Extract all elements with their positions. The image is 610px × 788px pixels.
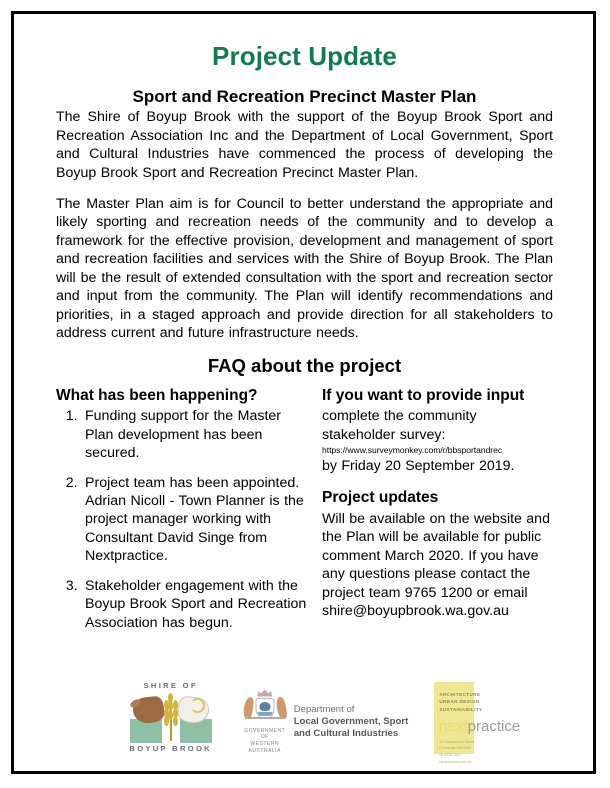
project-updates-heading: Project updates (322, 489, 550, 508)
aim-paragraph: The Master Plan aim is for Council to be… (56, 195, 553, 343)
gov-line-1: GOVERNMENT OF (243, 728, 287, 742)
intro-paragraph: The Shire of Boyup Brook with the suppor… (56, 108, 553, 182)
survey-deadline-text: by Friday 20 September 2019. (322, 457, 550, 475)
nextpractice-yellow-square: ARCHITECTURE URBAN DESIGN SUSTAINABILITY… (434, 682, 474, 754)
faq-heading: FAQ about the project (56, 355, 553, 377)
department-logo: GOVERNMENT OF WESTERN AUSTRALIA Departme… (243, 682, 409, 756)
shire-crest-icon (128, 691, 214, 743)
two-column-section: What has been happening? Funding support… (56, 387, 553, 633)
gov-line-2: WESTERN AUSTRALIA (243, 741, 287, 755)
kangaroo-left-icon (242, 696, 255, 719)
left-column-heading: What has been happening? (56, 387, 308, 406)
tagline-line-1: ARCHITECTURE (439, 691, 482, 699)
nextpractice-wordmark: nextpractice (439, 719, 520, 734)
tagline-line-3: SUSTAINABILITY (439, 706, 482, 714)
nextpractice-logo: ARCHITECTURE URBAN DESIGN SUSTAINABILITY… (434, 682, 512, 754)
logo-strip: SHIRE OF (14, 682, 593, 756)
kangaroo-right-icon (275, 696, 288, 719)
project-updates-text: Will be available on the website and the… (322, 510, 550, 621)
department-line-2: Local Government, Sport (294, 716, 409, 728)
crest-baseline (245, 717, 285, 719)
right-column: If you want to provide input complete th… (322, 387, 550, 621)
shire-of-boyup-brook-logo: SHIRE OF (125, 682, 217, 753)
address-line-3: 08 9335 1110 (439, 752, 474, 759)
department-name-text: Department of Local Government, Sport an… (294, 704, 409, 741)
document-subtitle: Sport and Recreation Precinct Master Pla… (56, 87, 553, 107)
page-title: Project Update (56, 42, 553, 71)
survey-link[interactable]: https://www.surveymonkey.com/r/bbsportan… (322, 445, 550, 456)
sheep-horn-icon (190, 698, 205, 713)
department-line-3: and Cultural Industries (294, 728, 409, 740)
tagline-line-2: URBAN DESIGN (439, 698, 482, 706)
nextpractice-tagline: ARCHITECTURE URBAN DESIGN SUSTAINABILITY (439, 691, 482, 714)
government-of-text: GOVERNMENT OF WESTERN AUSTRALIA (243, 728, 287, 756)
progress-list: Funding support for the Master Plan deve… (56, 407, 308, 632)
address-line-2: Fremantle WA 6160 (439, 745, 474, 752)
left-column: What has been happening? Funding support… (56, 387, 308, 633)
list-item: Stakeholder engagement with the Boyup Br… (82, 577, 308, 632)
crown-icon (257, 690, 272, 697)
water-wave-icon (257, 712, 272, 716)
crest-artwork (243, 690, 287, 727)
wordmark-practice: practice (468, 718, 521, 735)
document-page: Project Update Sport and Recreation Prec… (0, 0, 610, 788)
wheat-grain (168, 710, 173, 720)
wheat-grain (173, 716, 178, 726)
wheat-stalk-icon (163, 691, 179, 741)
wordmark-next: next (439, 718, 467, 735)
list-item: Project team has been appointed. Adrian … (82, 474, 308, 566)
provide-input-heading: If you want to provide input (322, 387, 550, 406)
nextpractice-address: 11 Cantonment Street Fremantle WA 6160 0… (439, 739, 474, 766)
address-line-1: 11 Cantonment Street (439, 739, 474, 746)
shire-logo-top-text: SHIRE OF (125, 682, 217, 690)
shire-logo-bottom-text: BOYUP BROOK (125, 745, 217, 753)
swan-icon (259, 702, 270, 711)
address-line-4: nextpractice.com.au (439, 759, 474, 766)
department-line-1: Department of (294, 704, 409, 716)
list-item: Funding support for the Master Plan deve… (82, 407, 308, 462)
wa-government-crest-icon: GOVERNMENT OF WESTERN AUSTRALIA (243, 690, 287, 756)
survey-intro-text: complete the community stakeholder surve… (322, 407, 550, 444)
document-content: Project Update Sport and Recreation Prec… (14, 14, 593, 771)
